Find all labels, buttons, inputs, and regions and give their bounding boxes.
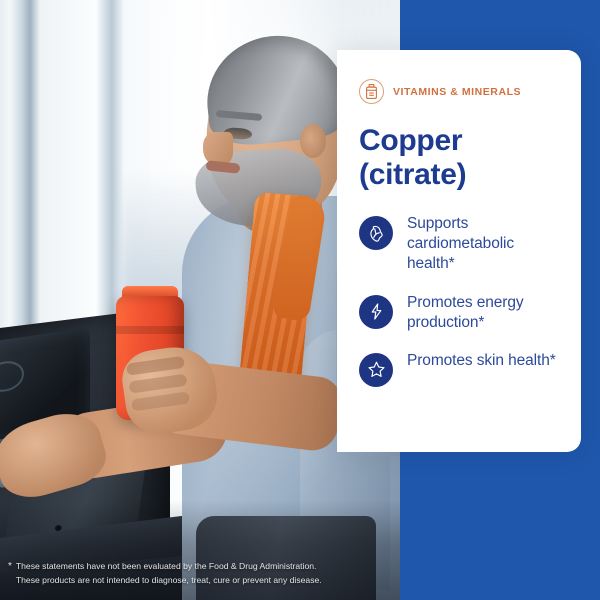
bottle-band [116,326,184,334]
disclaimer-text: These statements have not been evaluated… [16,560,322,588]
list-item: Promotes energy production* [359,293,559,333]
category-label: VITAMINS & MINERALS [393,86,521,98]
disclaimer-line-1: These statements have not been evaluated… [16,560,322,574]
list-item: Supports cardiometabolic health* [359,214,559,274]
product-name: Copper [359,124,559,158]
person-ear [300,124,326,158]
disclaimer-line-2: These products are not intended to diagn… [16,574,322,588]
disclaimer: * These statements have not been evaluat… [8,560,388,588]
disclaimer-marker: * [8,560,12,588]
list-item-label: Promotes skin health* [407,351,556,371]
supplement-bottle-icon [359,79,384,104]
list-item-label: Supports cardiometabolic health* [407,214,559,274]
product-info-card: VITAMINS & MINERALS Copper (citrate) Sup… [337,50,581,452]
category-eyebrow: VITAMINS & MINERALS [359,79,559,104]
list-item-label: Promotes energy production* [407,293,559,333]
list-item: Promotes skin health* [359,351,559,387]
lightning-bolt-icon [359,295,393,329]
benefits-list: Supports cardiometabolic health* Promote… [359,214,559,387]
heart-icon [359,216,393,250]
product-form: (citrate) [359,158,559,192]
star-icon [359,353,393,387]
page-title: Copper (citrate) [359,124,559,191]
poster-canvas: VITAMINS & MINERALS Copper (citrate) Sup… [0,0,600,600]
